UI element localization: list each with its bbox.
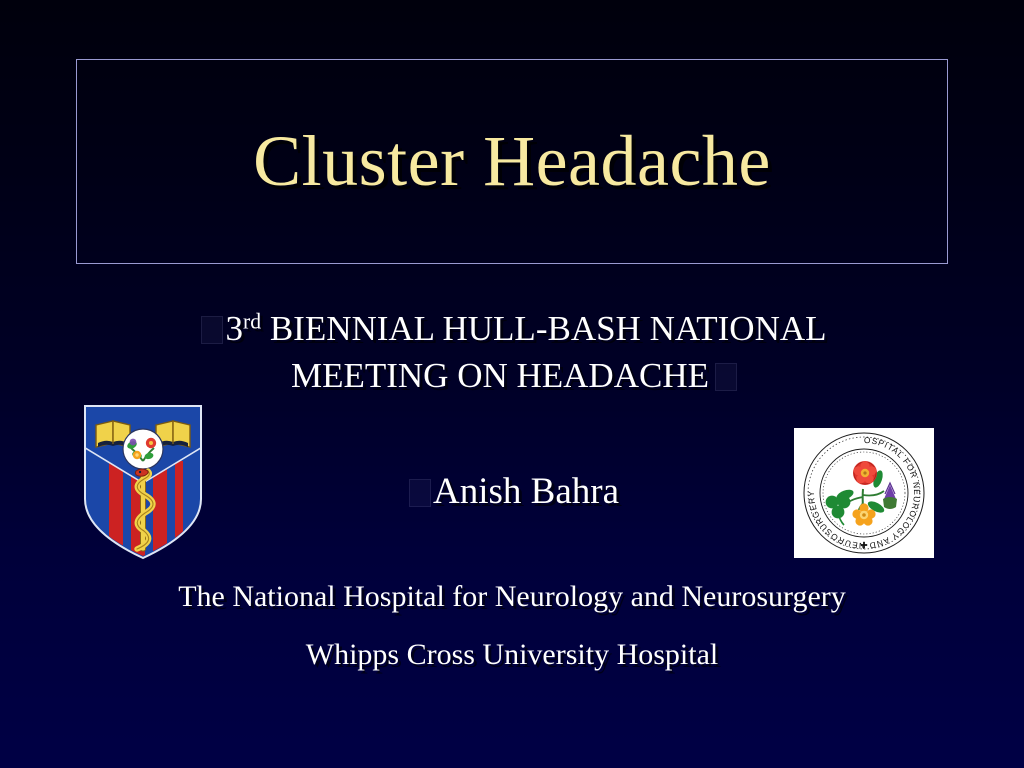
page-title: Cluster Headache xyxy=(253,124,771,200)
affiliation-line-2: Whipps Cross University Hospital xyxy=(0,638,1024,672)
subtitle-block: 3rd BIENNIAL HULL-BASH NATIONAL MEETING … xyxy=(108,306,920,399)
whipps-cross-coat-of-arms-icon xyxy=(82,403,204,561)
bullet-glyph-box-icon xyxy=(409,479,431,507)
affiliation-line-1: The National Hospital for Neurology and … xyxy=(0,580,1024,614)
presentation-slide: Cluster Headache 3rd BIENNIAL HULL-BASH … xyxy=(0,0,1024,768)
subtitle-ordinal-suffix: rd xyxy=(243,310,261,334)
bullet-glyph-box-icon xyxy=(201,316,223,344)
subtitle-line-2: MEETING ON HEADACHE xyxy=(108,353,920,400)
subtitle-line-1: 3rd BIENNIAL HULL-BASH NATIONAL xyxy=(108,306,920,353)
subtitle-line-1-text: BIENNIAL HULL-BASH NATIONAL xyxy=(261,309,826,348)
subtitle-line-2-text: MEETING ON HEADACHE xyxy=(291,356,709,395)
presenter-name: Anish Bahra xyxy=(433,471,619,512)
subtitle-ordinal-number: 3 xyxy=(225,309,243,348)
bullet-glyph-box-icon xyxy=(715,363,737,391)
national-hospital-seal-icon: THE NATIONAL HOSPITAL FOR NEUROLOGY AND … xyxy=(794,428,934,558)
title-placeholder-box: Cluster Headache xyxy=(76,59,948,264)
floral-roundel-icon xyxy=(123,429,163,469)
